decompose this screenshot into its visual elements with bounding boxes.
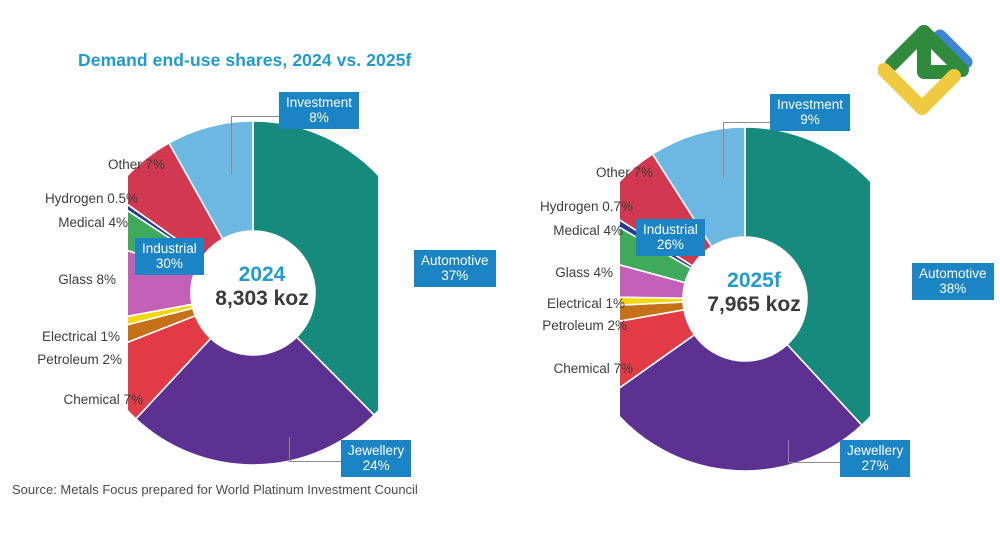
badge-investment-label-2024: Investment	[286, 95, 352, 110]
badge-industrial-value-2025f: 26%	[643, 237, 698, 252]
page-title: Demand end-use shares, 2024 vs. 2025f	[78, 50, 411, 71]
leader-line-jewellery-h-2024	[289, 461, 341, 463]
leader-line-investment-h-2024	[231, 116, 281, 118]
label-medical-2024: Medical 4%	[0, 215, 128, 230]
chart-canvas: Demand end-use shares, 2024 vs. 2025f 20…	[0, 0, 1000, 545]
leader-line-jewellery-2025f	[788, 440, 790, 463]
donut-center-hole	[685, 239, 805, 359]
label-chemical-2024: Chemical 7%	[0, 392, 143, 407]
badge-jewellery-2025f[interactable]: Jewellery 27%	[840, 440, 910, 477]
badge-industrial-2024[interactable]: Industrial 30%	[135, 238, 204, 275]
badge-automotive-value-2024: 37%	[421, 268, 489, 283]
label-petroleum-2025f: Petroleum 2%	[490, 318, 627, 333]
donut-svg-2024	[128, 118, 378, 468]
badge-investment-2025f[interactable]: Investment 9%	[770, 94, 850, 131]
label-other-2024: Other 7%	[0, 157, 165, 172]
logo-mark-icon	[878, 12, 990, 124]
badge-investment-value-2024: 8%	[286, 110, 352, 125]
label-chemical-2025f: Chemical 7%	[490, 361, 633, 376]
litefinance-logo	[878, 12, 990, 124]
badge-jewellery-label-2024: Jewellery	[348, 443, 404, 458]
badge-industrial-2025f[interactable]: Industrial 26%	[636, 219, 705, 256]
leader-line-jewellery-h-2025f	[788, 462, 840, 464]
badge-jewellery-value-2024: 24%	[348, 458, 404, 473]
label-glass-2024: Glass 8%	[0, 272, 116, 287]
badge-automotive-label-2025f: Automotive	[919, 266, 987, 281]
badge-jewellery-2024[interactable]: Jewellery 24%	[341, 440, 411, 477]
label-medical-2025f: Medical 4%	[490, 223, 623, 238]
badge-automotive-2024[interactable]: Automotive 37%	[414, 250, 496, 287]
donut-svg-2025f	[620, 124, 870, 474]
leader-line-jewellery-2024	[289, 437, 291, 462]
label-hydrogen-2025f: Hydrogen 0.7%	[490, 199, 633, 214]
donut-chart-2024	[128, 118, 378, 468]
label-electrical-2024: Electrical 1%	[0, 329, 120, 344]
badge-industrial-label-2024: Industrial	[142, 241, 197, 256]
leader-line-investment-2024	[231, 116, 233, 174]
label-petroleum-2024: Petroleum 2%	[0, 352, 122, 367]
label-other-2025f: Other 7%	[490, 165, 653, 180]
badge-automotive-value-2025f: 38%	[919, 281, 987, 296]
badge-investment-label-2025f: Investment	[777, 97, 843, 112]
badge-investment-value-2025f: 9%	[777, 112, 843, 127]
leader-line-investment-2025f	[723, 122, 725, 178]
badge-jewellery-value-2025f: 27%	[847, 458, 903, 473]
donut-chart-2025f	[620, 124, 870, 474]
badge-industrial-value-2024: 30%	[142, 256, 197, 271]
badge-jewellery-label-2025f: Jewellery	[847, 443, 903, 458]
badge-automotive-label-2024: Automotive	[421, 253, 489, 268]
label-hydrogen-2024: Hydrogen 0.5%	[0, 191, 138, 206]
donut-center-hole	[193, 233, 313, 353]
badge-industrial-label-2025f: Industrial	[643, 222, 698, 237]
leader-line-investment-h-2025f	[723, 122, 771, 124]
label-electrical-2025f: Electrical 1%	[490, 296, 625, 311]
badge-automotive-2025f[interactable]: Automotive 38%	[912, 263, 994, 300]
badge-investment-2024[interactable]: Investment 8%	[279, 92, 359, 129]
source-note: Source: Metals Focus prepared for World …	[12, 482, 418, 497]
label-glass-2025f: Glass 4%	[490, 265, 613, 280]
